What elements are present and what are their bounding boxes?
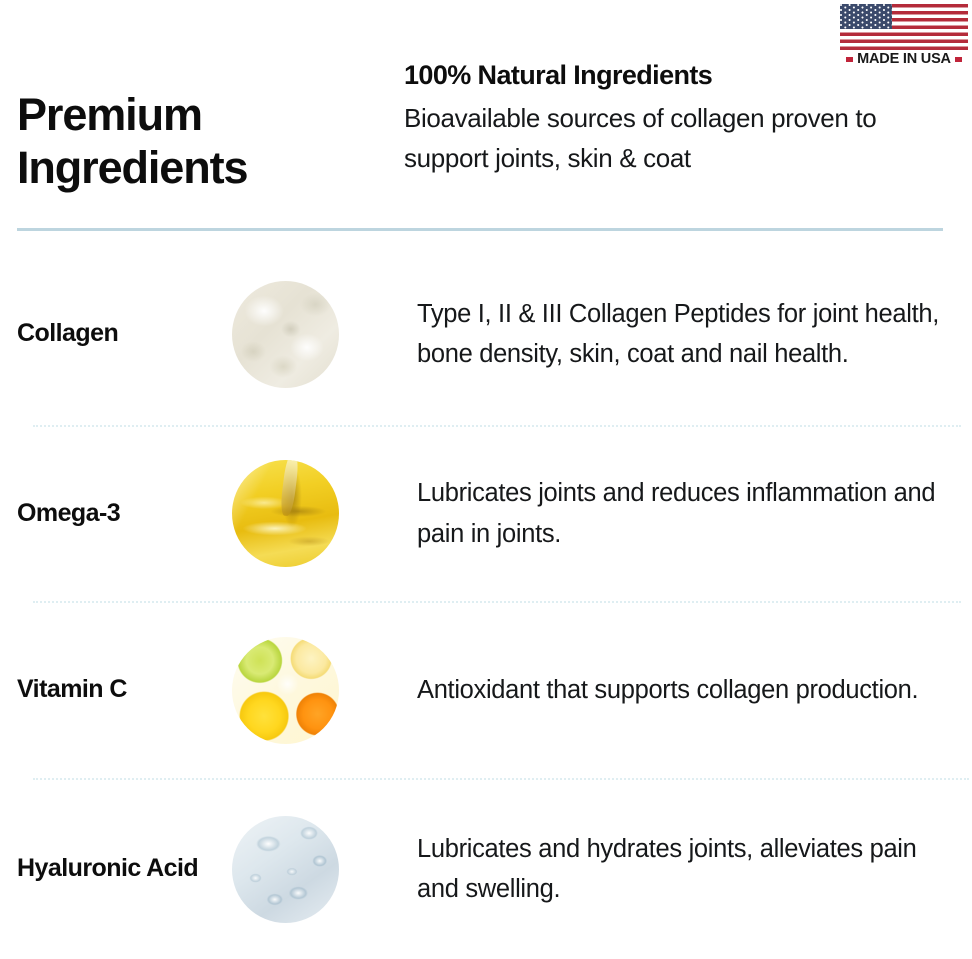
ingredient-description: Lubricates and hydrates joints, alleviat… <box>405 829 972 910</box>
ingredient-name: Hyaluronic Acid <box>0 852 215 886</box>
omega3-oil-swatch <box>232 460 339 567</box>
collagen-powder-swatch <box>232 281 339 388</box>
vitamin-c-citrus-swatch <box>232 637 339 744</box>
flag-stars-offset <box>840 4 892 29</box>
flag-canton <box>840 4 892 29</box>
hyaluronic-acid-water-swatch <box>232 816 339 923</box>
ingredient-description: Antioxidant that supports collagen produ… <box>405 670 972 710</box>
ingredient-description: Lubricates joints and reduces inflammati… <box>405 473 972 554</box>
header-subtitle: 100% Natural Ingredients <box>404 58 959 94</box>
header-summary: 100% Natural Ingredients Bioavailable so… <box>404 58 959 178</box>
ingredient-name: Vitamin C <box>0 673 215 707</box>
ingredient-name: Collagen <box>0 317 215 351</box>
ingredient-row-omega-3: Omega-3 Lubricates joints and reduces in… <box>0 426 972 601</box>
ingredient-image <box>215 281 405 388</box>
ingredient-description: Type I, II & III Collagen Peptides for j… <box>405 294 972 375</box>
ingredient-image <box>215 460 405 567</box>
header-divider <box>17 228 943 231</box>
ingredients-infographic: MADE IN USA Premium Ingredients 100% Nat… <box>0 0 972 959</box>
ingredient-image <box>215 816 405 923</box>
ingredient-row-vitamin-c: Vitamin C Antioxidant that supports coll… <box>0 602 972 778</box>
ingredient-name: Omega-3 <box>0 497 215 531</box>
ingredient-row-collagen: Collagen Type I, II & III Collagen Pepti… <box>0 244 972 424</box>
page-title: Premium Ingredients <box>17 88 377 194</box>
header-description: Bioavailable sources of collagen proven … <box>404 98 959 179</box>
header: Premium Ingredients 100% Natural Ingredi… <box>0 44 972 214</box>
ingredient-row-hyaluronic-acid: Hyaluronic Acid Lubricates and hydrates … <box>0 779 972 959</box>
ingredient-image <box>215 637 405 744</box>
